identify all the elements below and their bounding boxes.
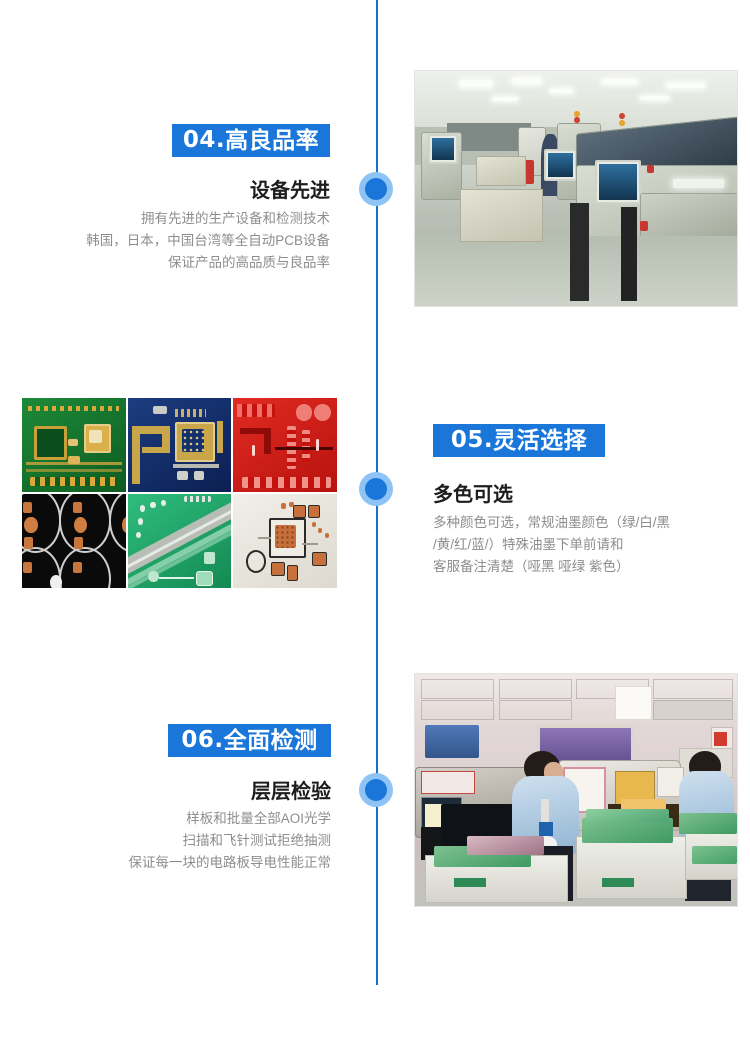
section-06-body-line-3: 保证每一块的电路板导电性能正常 bbox=[0, 852, 331, 874]
aoi-inspection-photo bbox=[414, 673, 738, 907]
section-04-body-line-1: 拥有先进的生产设备和检测技术 bbox=[0, 208, 330, 230]
teal-pcb-sample bbox=[128, 494, 232, 588]
section-04-body-line-3: 保证产品的高品质与良品率 bbox=[0, 252, 330, 274]
black-pcb-sample bbox=[22, 494, 126, 588]
section-04-badge: 04.高良品率 bbox=[172, 124, 330, 157]
timeline-dot-section-05 bbox=[359, 472, 393, 506]
section-04-badge-label: 高良品率 bbox=[225, 129, 319, 152]
red-pcb-sample bbox=[233, 398, 337, 492]
section-06-body-line-1: 样板和批量全部AOI光学 bbox=[0, 808, 331, 830]
section-06-body: 样板和批量全部AOI光学 扫描和飞针测试拒绝抽测 保证每一块的电路板导电性能正常 bbox=[0, 808, 331, 874]
timeline-dot-inner bbox=[365, 779, 387, 801]
section-04-body: 拥有先进的生产设备和检测技术 韩国，日本，中国台湾等全自动PCB设备 保证产品的… bbox=[0, 208, 330, 274]
section-05-body-line-3: 客服备注清楚（哑黑 哑绿 紫色） bbox=[433, 556, 738, 578]
section-05-heading: 多色可选 bbox=[433, 478, 513, 507]
product-detail-page: 04.高良品率 设备先进 拥有先进的生产设备和检测技术 韩国，日本，中国台湾等全… bbox=[0, 0, 750, 1050]
section-04-heading: 设备先进 bbox=[0, 174, 330, 203]
timeline-dot-inner bbox=[365, 178, 387, 200]
blue-pcb-sample bbox=[128, 398, 232, 492]
section-06-body-line-2: 扫描和飞针测试拒绝抽测 bbox=[0, 830, 331, 852]
section-05-badge-label: 灵活选择 bbox=[493, 429, 587, 452]
section-06-badge: 06.全面检测 bbox=[168, 724, 331, 757]
section-06-heading: 层层检验 bbox=[0, 775, 331, 804]
timeline-dot-section-06 bbox=[359, 773, 393, 807]
section-05-body-line-2: /黄/红/蓝/）特殊油墨下单前请和 bbox=[433, 534, 738, 556]
section-05-body: 多种颜色可选，常规油墨颜色（绿/白/黑 /黄/红/蓝/）特殊油墨下单前请和 客服… bbox=[433, 512, 738, 578]
section-05-body-line-1: 多种颜色可选，常规油墨颜色（绿/白/黑 bbox=[433, 512, 738, 534]
section-05-badge-number: 05. bbox=[451, 429, 493, 452]
green-pcb-sample bbox=[22, 398, 126, 492]
section-04-body-line-2: 韩国，日本，中国台湾等全自动PCB设备 bbox=[0, 230, 330, 252]
section-04-badge-number: 04. bbox=[183, 129, 225, 152]
section-06-badge-label: 全面检测 bbox=[224, 729, 318, 752]
section-06-badge-number: 06. bbox=[181, 729, 223, 752]
section-05-badge: 05.灵活选择 bbox=[433, 424, 605, 457]
smt-production-line-photo bbox=[414, 70, 738, 307]
timeline-dot-section-04 bbox=[359, 172, 393, 206]
white-pcb-sample bbox=[233, 494, 337, 588]
pcb-color-samples-grid bbox=[22, 398, 337, 588]
timeline-dot-inner bbox=[365, 478, 387, 500]
